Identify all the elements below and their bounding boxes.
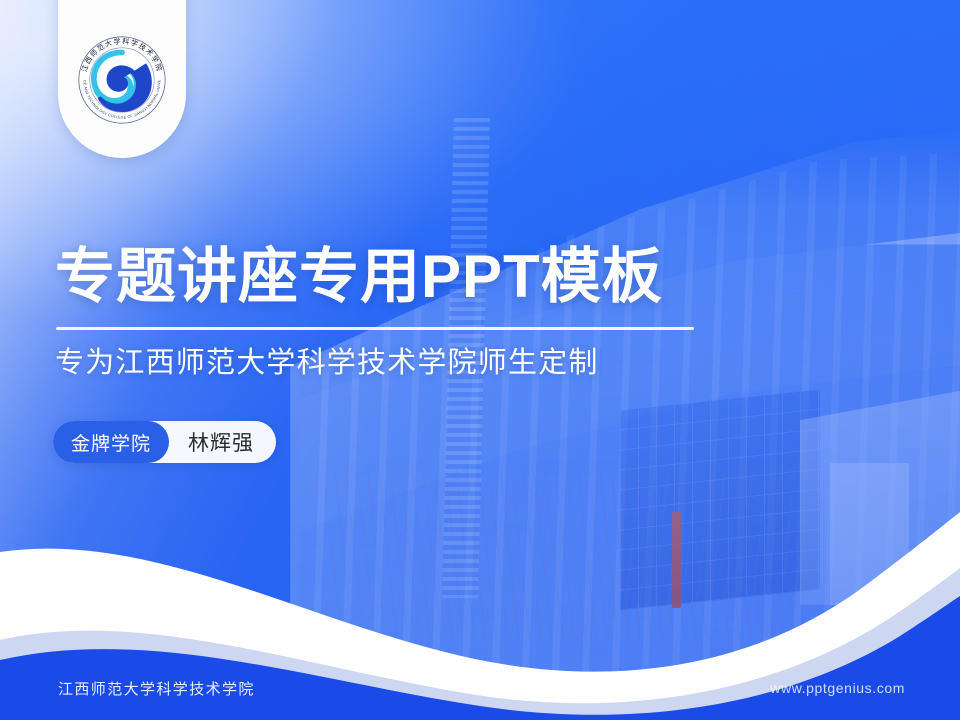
badge-tag-label: 金牌学院: [53, 421, 169, 463]
presenter-name: 林辉强: [169, 427, 254, 457]
presentation-slide: 江西师范大学科学技术学院 SCIENCE AND TECHNOLOGY COLL…: [0, 0, 960, 720]
title-divider: [56, 327, 694, 330]
footer-institution: 江西师范大学科学技术学院: [58, 678, 255, 699]
slide-subtitle: 专为江西师范大学科学技术学院师生定制: [55, 345, 599, 383]
university-logo-icon: 江西师范大学科学技术学院 SCIENCE AND TECHNOLOGY COLL…: [70, 28, 174, 132]
footer-website[interactable]: www.pptgenius.com: [770, 680, 905, 696]
presenter-badge: 金牌学院 林辉强: [53, 421, 276, 463]
logo-tab: 江西师范大学科学技术学院 SCIENCE AND TECHNOLOGY COLL…: [58, 0, 186, 158]
slide-title: 专题讲座专用PPT模板: [55, 243, 663, 310]
